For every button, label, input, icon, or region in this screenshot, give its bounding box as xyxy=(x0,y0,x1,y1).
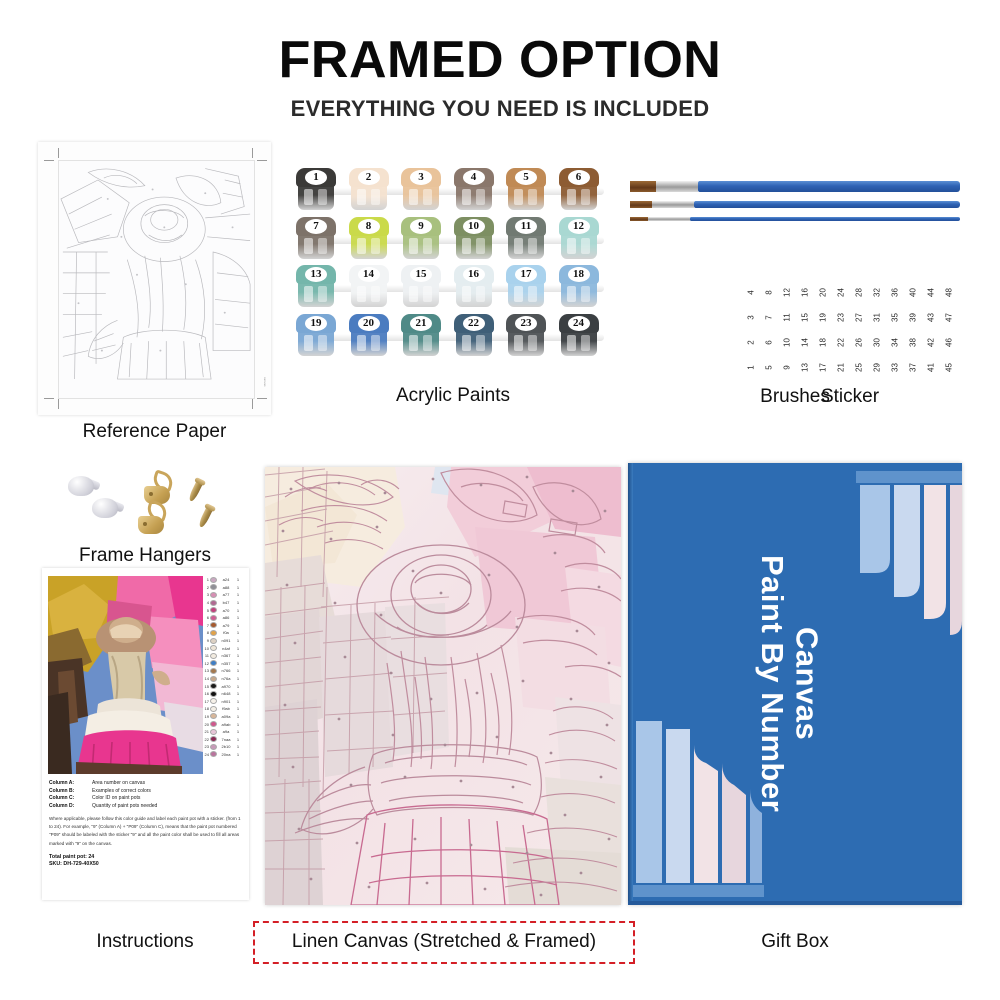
paint-pot-number: 12 xyxy=(559,217,599,236)
gift-box-title: Canvas Paint By Number xyxy=(628,463,962,905)
sticker-column: 25262728 xyxy=(852,288,866,372)
reference-paper-sheet: canvas xyxy=(38,142,271,415)
sticker-column: 41424344 xyxy=(924,288,938,372)
paint-pot-number: 3 xyxy=(401,168,441,187)
legend-color-code: f9ab xyxy=(218,706,234,711)
legend-number: 21 xyxy=(202,729,209,734)
legend-row: 14n76a1 xyxy=(202,675,246,683)
legend-row: 4b471 xyxy=(202,599,246,607)
instructions-sheet: 1a2412a8813a7714b4715a7016a8617a7918f0a1… xyxy=(42,568,249,900)
legend-row: 7a791 xyxy=(202,622,246,630)
legend-color-code: a88 xyxy=(218,585,234,590)
legend-color-code: a86 xyxy=(218,615,234,620)
paint-pot[interactable]: 18 xyxy=(559,265,599,307)
paint-pot[interactable]: 10 xyxy=(454,217,494,259)
paint-pot[interactable]: 14 xyxy=(349,265,389,307)
sticker-number-grid: 1234567891011121314151617181920212223242… xyxy=(744,288,956,372)
brush[interactable] xyxy=(630,181,960,192)
legend-color-code: n648 xyxy=(218,691,234,696)
paint-pot-number: 19 xyxy=(296,314,336,333)
legend-row: 9n0911 xyxy=(202,637,246,645)
paint-pot-number: 18 xyxy=(559,265,599,284)
legend-color-code: n901 xyxy=(218,699,234,704)
paint-pot-row: 131415161718 xyxy=(296,265,610,309)
gift-box-title-line-1: Canvas xyxy=(790,627,825,740)
legend-number: 23 xyxy=(202,744,209,749)
legend-quantity: 1 xyxy=(235,676,241,681)
paint-pot[interactable]: 2 xyxy=(349,168,389,210)
brush[interactable] xyxy=(630,201,960,208)
legend-color-swatch xyxy=(210,721,217,727)
sticker-number[interactable]: 20 xyxy=(819,286,828,300)
gift-box-title-line-2: Paint By Number xyxy=(755,555,790,812)
legend-color-swatch xyxy=(210,577,217,583)
legend-quantity: 1 xyxy=(235,729,241,734)
paint-pot[interactable]: 11 xyxy=(506,217,546,259)
crop-mark xyxy=(58,399,59,409)
caption-instructions: Instructions xyxy=(40,931,250,953)
sticker-number[interactable]: 9 xyxy=(783,361,792,375)
paint-pot-number: 22 xyxy=(454,314,494,333)
paint-pot[interactable]: 15 xyxy=(401,265,441,307)
page-title: FRAMED OPTION xyxy=(0,30,1000,90)
legend-color-swatch xyxy=(210,638,217,644)
crop-mark xyxy=(44,398,54,399)
legend-color-swatch xyxy=(210,736,217,742)
paint-pot-number: 24 xyxy=(559,314,599,333)
legend-row: 18f9ab1 xyxy=(202,705,246,713)
paint-pot-number: 11 xyxy=(506,217,546,236)
legend-color-code: n4af xyxy=(218,646,234,651)
legend-number: 4 xyxy=(202,600,209,605)
caption-linen-canvas: Linen Canvas (Stretched & Framed) xyxy=(253,931,635,953)
legend-number: 5 xyxy=(202,608,209,613)
legend-color-swatch xyxy=(210,660,217,666)
legend-color-code: 2b10 xyxy=(218,744,234,749)
legend-quantity: 1 xyxy=(235,684,241,689)
legend-quantity: 1 xyxy=(235,661,241,666)
brush-handle xyxy=(694,201,960,208)
paint-pot-number: 2 xyxy=(349,168,389,187)
sticker-number[interactable]: 8 xyxy=(765,286,774,300)
legend-row: 19a09a1 xyxy=(202,713,246,721)
sticker-number[interactable]: 43 xyxy=(927,311,936,325)
legend-row: 10n4af1 xyxy=(202,644,246,652)
legend-number: 19 xyxy=(202,714,209,719)
legend-number: 13 xyxy=(202,668,209,673)
legend-quantity: 1 xyxy=(235,623,241,628)
legend-color-code: a79 xyxy=(218,623,234,628)
brush-bristle-tip xyxy=(630,181,656,192)
legend-color-swatch xyxy=(210,729,217,735)
paint-pot-row: 123456 xyxy=(296,168,610,212)
sticker-number[interactable]: 35 xyxy=(891,311,900,325)
wall-plug-icon xyxy=(92,498,118,528)
paint-pot[interactable]: 4 xyxy=(454,168,494,210)
paint-pot-number: 5 xyxy=(506,168,546,187)
paint-pot[interactable]: 3 xyxy=(401,168,441,210)
legend-quantity: 1 xyxy=(235,706,241,711)
paint-pot[interactable]: 24 xyxy=(559,314,599,356)
sticker-number[interactable]: 7 xyxy=(765,311,774,325)
paint-pot-number: 10 xyxy=(454,217,494,236)
frame-hangers-group xyxy=(60,470,230,545)
sticker-column: 33343536 xyxy=(888,288,902,372)
brush-handle xyxy=(698,181,960,192)
sticker-number[interactable]: 44 xyxy=(927,286,936,300)
legend-color-code: 7naa xyxy=(218,737,234,742)
legend-number: 9 xyxy=(202,638,209,643)
legend-number: 10 xyxy=(202,646,209,651)
sticker-number[interactable]: 30 xyxy=(873,336,882,350)
sticker-number[interactable]: 12 xyxy=(783,286,792,300)
legend-color-swatch xyxy=(210,698,217,704)
sticker-number[interactable]: 36 xyxy=(891,286,900,300)
sticker-number[interactable]: 22 xyxy=(837,336,846,350)
reference-line-art xyxy=(58,160,255,399)
screw-icon xyxy=(198,506,214,529)
legend-row: 16n6481 xyxy=(202,690,246,698)
legend-number: 11 xyxy=(202,653,209,658)
legend-number: 3 xyxy=(202,592,209,597)
legend-quantity: 1 xyxy=(235,615,241,620)
instructions-column-line: Column D:Quantity of paint pots needed xyxy=(49,803,244,809)
paint-pot[interactable]: 20 xyxy=(349,314,389,356)
sticker-number[interactable]: 24 xyxy=(837,286,846,300)
legend-color-swatch xyxy=(210,592,217,598)
paint-pot-number: 20 xyxy=(349,314,389,333)
sticker-column: 13141516 xyxy=(798,288,812,372)
sticker-sheet: 1234567891011121314151617181920212223242… xyxy=(744,288,956,372)
legend-color-swatch xyxy=(210,744,217,750)
legend-color-swatch xyxy=(210,630,217,636)
sticker-number[interactable]: 1 xyxy=(747,361,756,375)
legend-color-code: a9a xyxy=(218,729,234,734)
paint-pot-number: 8 xyxy=(349,217,389,236)
sticker-column: 21222324 xyxy=(834,288,848,372)
crop-mark xyxy=(44,160,54,161)
legend-row: 6a861 xyxy=(202,614,246,622)
sticker-number[interactable]: 23 xyxy=(837,311,846,325)
sticker-number[interactable]: 33 xyxy=(891,361,900,375)
legend-number: 16 xyxy=(202,691,209,696)
paint-pot[interactable]: 19 xyxy=(296,314,336,356)
sticker-column: 37383940 xyxy=(906,288,920,372)
instructions-preview-image xyxy=(48,576,203,774)
legend-color-code: a24 xyxy=(218,577,234,582)
legend-color-code: n76a xyxy=(218,676,234,681)
sticker-column: 45464748 xyxy=(942,288,956,372)
legend-color-swatch xyxy=(210,683,217,689)
legend-number: 24 xyxy=(202,752,209,757)
legend-color-code: n766 xyxy=(218,668,234,673)
legend-color-swatch xyxy=(210,653,217,659)
sticker-number[interactable]: 34 xyxy=(891,336,900,350)
crop-mark xyxy=(257,160,267,161)
instructions-column-key-label: Column D: xyxy=(49,803,87,809)
d-ring-hanger-icon xyxy=(138,502,168,534)
legend-color-swatch xyxy=(210,607,217,613)
sticker-number[interactable]: 4 xyxy=(747,286,756,300)
sticker-column: 29303132 xyxy=(870,288,884,372)
legend-row: 232b101 xyxy=(202,743,246,751)
sticker-number[interactable]: 45 xyxy=(945,361,954,375)
crop-mark xyxy=(58,148,59,158)
paint-pot[interactable]: 12 xyxy=(559,217,599,259)
paint-pot[interactable]: 8 xyxy=(349,217,389,259)
reference-art-svg xyxy=(59,161,254,398)
legend-row: 21a9a1 xyxy=(202,728,246,736)
legend-quantity: 1 xyxy=(235,691,241,696)
legend-quantity: 1 xyxy=(235,744,241,749)
paint-pot-row: 192021222324 xyxy=(296,314,610,358)
sticker-number[interactable]: 11 xyxy=(783,311,792,325)
sticker-number[interactable]: 38 xyxy=(909,336,918,350)
legend-color-code: n367 xyxy=(218,653,234,658)
legend-quantity: 1 xyxy=(235,577,241,582)
infographic-page: FRAMED OPTION EVERYTHING YOU NEED IS INC… xyxy=(0,0,1000,1000)
legend-row: 15a9701 xyxy=(202,682,246,690)
brush[interactable] xyxy=(630,217,960,221)
legend-color-code: n357 xyxy=(218,661,234,666)
sticker-number[interactable]: 10 xyxy=(783,336,792,350)
sticker-column: 17181920 xyxy=(816,288,830,372)
sticker-number[interactable]: 3 xyxy=(747,311,756,325)
legend-quantity: 1 xyxy=(235,638,241,643)
sticker-number[interactable]: 14 xyxy=(801,336,810,350)
sticker-number[interactable]: 46 xyxy=(945,336,954,350)
gift-box-preview: Canvas Paint By Number xyxy=(628,463,962,905)
canvas-line-art xyxy=(265,467,621,905)
sticker-number[interactable]: 16 xyxy=(801,286,810,300)
paint-pot[interactable]: 23 xyxy=(506,314,546,356)
sticker-number[interactable]: 19 xyxy=(819,311,828,325)
instructions-column-key: Column A:Area number on canvasColumn B:E… xyxy=(49,780,244,809)
screw-icon xyxy=(188,480,204,503)
legend-row: 11n3671 xyxy=(202,652,246,660)
instructions-column-key-label: Column C: xyxy=(49,795,87,801)
caption-sticker: Sticker xyxy=(744,386,956,408)
sticker-number[interactable]: 26 xyxy=(855,336,864,350)
legend-quantity: 1 xyxy=(235,699,241,704)
legend-row: 2420na1 xyxy=(202,751,246,759)
paint-pot-number: 14 xyxy=(349,265,389,284)
instructions-column-line: Column A:Area number on canvas xyxy=(49,780,244,786)
sticker-number[interactable]: 31 xyxy=(873,311,882,325)
crop-mark xyxy=(252,148,253,158)
legend-color-swatch xyxy=(210,751,217,757)
legend-quantity: 1 xyxy=(235,752,241,757)
d-ring-hanger-icon xyxy=(144,472,174,504)
legend-color-swatch xyxy=(210,668,217,674)
sticker-column: 5678 xyxy=(762,288,776,372)
instructions-art-svg xyxy=(48,576,203,774)
brush-ferrule xyxy=(652,201,694,208)
legend-number: 17 xyxy=(202,699,209,704)
legend-quantity: 1 xyxy=(235,592,241,597)
sticker-number[interactable]: 25 xyxy=(855,361,864,375)
sticker-number[interactable]: 37 xyxy=(909,361,918,375)
sticker-number[interactable]: 2 xyxy=(747,336,756,350)
instructions-column-key-label: Column A: xyxy=(49,780,87,786)
legend-number: 7 xyxy=(202,623,209,628)
brush-set xyxy=(630,175,960,245)
sticker-number[interactable]: 28 xyxy=(855,286,864,300)
total-paint-pot-label: Total paint pot: 24 xyxy=(49,854,244,860)
instructions-column-line: Column C:Color ID on paint pots xyxy=(49,795,244,801)
paint-pot-number: 4 xyxy=(454,168,494,187)
legend-color-swatch xyxy=(210,645,217,651)
sticker-number[interactable]: 5 xyxy=(765,361,774,375)
paint-pot[interactable]: 6 xyxy=(559,168,599,210)
instructions-column-line: Column B:Examples of correct colors xyxy=(49,788,244,794)
paint-pot-number: 6 xyxy=(559,168,599,187)
instructions-column-value: Examples of correct colors xyxy=(92,788,151,794)
instructions-note: Where applicable, please follow this col… xyxy=(49,815,244,849)
sticker-number[interactable]: 21 xyxy=(837,361,846,375)
sticker-number[interactable]: 47 xyxy=(945,311,954,325)
sticker-number[interactable]: 17 xyxy=(819,361,828,375)
paint-pot[interactable]: 22 xyxy=(454,314,494,356)
legend-row: 8f0a1 xyxy=(202,629,246,637)
legend-color-swatch xyxy=(210,676,217,682)
legend-color-code: b47 xyxy=(218,600,234,605)
paint-pot[interactable]: 16 xyxy=(454,265,494,307)
legend-quantity: 1 xyxy=(235,630,241,635)
legend-row: 3a771 xyxy=(202,591,246,599)
sticker-number[interactable]: 42 xyxy=(927,336,936,350)
paint-pot-number: 13 xyxy=(296,265,336,284)
legend-color-code: a970 xyxy=(218,684,234,689)
legend-row: 12n3571 xyxy=(202,660,246,668)
legend-color-swatch xyxy=(210,584,217,590)
legend-quantity: 1 xyxy=(235,668,241,673)
legend-color-swatch xyxy=(210,713,217,719)
page-subtitle: EVERYTHING YOU NEED IS INCLUDED xyxy=(0,96,1000,122)
sticker-number[interactable]: 27 xyxy=(855,311,864,325)
legend-number: 1 xyxy=(202,577,209,582)
wall-plug-icon xyxy=(68,476,94,506)
paint-pot-number: 7 xyxy=(296,217,336,236)
legend-number: 8 xyxy=(202,630,209,635)
paint-pot-number: 9 xyxy=(401,217,441,236)
instructions-column-value: Quantity of paint pots needed xyxy=(92,803,157,809)
sticker-number[interactable]: 40 xyxy=(909,286,918,300)
legend-color-swatch xyxy=(210,600,217,606)
paint-pot-number: 23 xyxy=(506,314,546,333)
paint-pot-number: 16 xyxy=(454,265,494,284)
linen-canvas-preview xyxy=(265,467,621,905)
paint-pot[interactable]: 13 xyxy=(296,265,336,307)
paint-pot[interactable]: 21 xyxy=(401,314,441,356)
legend-number: 15 xyxy=(202,684,209,689)
legend-number: 22 xyxy=(202,737,209,742)
instructions-text-block: Column A:Area number on canvasColumn B:E… xyxy=(49,780,244,867)
legend-color-swatch xyxy=(210,622,217,628)
legend-number: 12 xyxy=(202,661,209,666)
paint-pot[interactable]: 9 xyxy=(401,217,441,259)
sku-label: SKU: DH-729-40X50 xyxy=(49,861,244,867)
paint-pot-number: 17 xyxy=(506,265,546,284)
sticker-number[interactable]: 13 xyxy=(801,361,810,375)
paint-pot-number: 21 xyxy=(401,314,441,333)
caption-gift-box: Gift Box xyxy=(700,931,890,953)
brush-bristle-tip xyxy=(630,201,652,208)
legend-quantity: 1 xyxy=(235,600,241,605)
paint-pot-number: 1 xyxy=(296,168,336,187)
sticker-number[interactable]: 29 xyxy=(873,361,882,375)
legend-number: 14 xyxy=(202,676,209,681)
legend-color-swatch xyxy=(210,615,217,621)
legend-row: 2a881 xyxy=(202,584,246,592)
acrylic-paint-pots: 123456789101112131415161718192021222324 xyxy=(296,168,610,360)
legend-color-code: f0a xyxy=(218,630,234,635)
sticker-column: 1234 xyxy=(744,288,758,372)
legend-row: 5a701 xyxy=(202,606,246,614)
caption-acrylic-paints: Acrylic Paints xyxy=(296,385,610,407)
brush-ferrule xyxy=(648,217,690,221)
paint-pot[interactable]: 5 xyxy=(506,168,546,210)
brush-handle xyxy=(690,217,960,221)
legend-color-code: a70 xyxy=(218,608,234,613)
instructions-column-key-label: Column B: xyxy=(49,788,87,794)
legend-quantity: 1 xyxy=(235,653,241,658)
sticker-number[interactable]: 15 xyxy=(801,311,810,325)
legend-number: 18 xyxy=(202,706,209,711)
sticker-number[interactable]: 39 xyxy=(909,311,918,325)
sticker-number[interactable]: 18 xyxy=(819,336,828,350)
legend-row: 13n7661 xyxy=(202,667,246,675)
legend-color-code: n091 xyxy=(218,638,234,643)
legend-quantity: 1 xyxy=(235,646,241,651)
legend-row: 1a241 xyxy=(202,576,246,584)
legend-quantity: 1 xyxy=(235,737,241,742)
legend-quantity: 1 xyxy=(235,585,241,590)
legend-row: 17n9011 xyxy=(202,698,246,706)
reference-watermark: canvas xyxy=(263,377,267,387)
legend-number: 6 xyxy=(202,615,209,620)
canvas-art-svg xyxy=(265,467,621,905)
legend-color-code: 20na xyxy=(218,752,234,757)
paint-pot[interactable]: 1 xyxy=(296,168,336,210)
paint-pot-number: 15 xyxy=(401,265,441,284)
legend-color-swatch xyxy=(210,706,217,712)
paint-pot-row: 789101112 xyxy=(296,217,610,261)
sticker-column: 9101112 xyxy=(780,288,794,372)
brush-bristle-tip xyxy=(630,217,648,221)
instructions-column-value: Area number on canvas xyxy=(92,780,145,786)
legend-color-code: a9ab xyxy=(218,722,234,727)
paint-pot[interactable]: 17 xyxy=(506,265,546,307)
sticker-number[interactable]: 41 xyxy=(927,361,936,375)
sticker-number[interactable]: 32 xyxy=(873,286,882,300)
paint-pot[interactable]: 7 xyxy=(296,217,336,259)
legend-color-code: a77 xyxy=(218,592,234,597)
brush-ferrule xyxy=(656,181,698,192)
legend-quantity: 1 xyxy=(235,714,241,719)
instructions-column-value: Color ID on paint pots xyxy=(92,795,140,801)
sticker-number[interactable]: 6 xyxy=(765,336,774,350)
caption-frame-hangers: Frame Hangers xyxy=(40,545,250,567)
sticker-number[interactable]: 48 xyxy=(945,286,954,300)
legend-color-swatch xyxy=(210,691,217,697)
crop-mark xyxy=(257,398,267,399)
legend-number: 2 xyxy=(202,585,209,590)
legend-quantity: 1 xyxy=(235,722,241,727)
crop-mark xyxy=(252,399,253,409)
legend-row: 227naa1 xyxy=(202,735,246,743)
legend-number: 20 xyxy=(202,722,209,727)
